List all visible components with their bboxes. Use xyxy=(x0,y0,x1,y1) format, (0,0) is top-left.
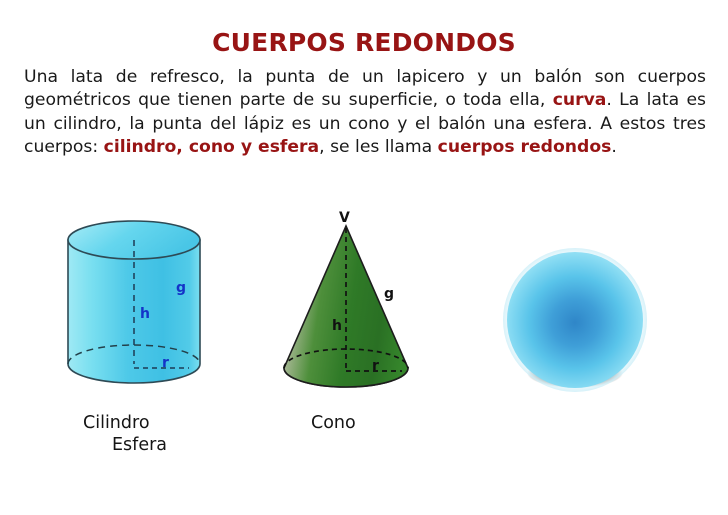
keyword-cilindro-cono-esfera: cilindro, cono y esfera xyxy=(104,137,320,157)
caption-cono: Cono xyxy=(311,413,356,433)
keyword-cuerpos-redondos: cuerpos redondos xyxy=(438,137,612,157)
paragraph-run-5: , se les llama xyxy=(319,137,438,157)
cone-label-v: V xyxy=(339,210,350,226)
figure-cylinder: h g r xyxy=(50,208,240,408)
cylinder-label-h: h xyxy=(140,306,150,322)
caption-cilindro: Cilindro xyxy=(83,413,150,433)
figure-cone: V h g r xyxy=(262,208,447,408)
caption-esfera: Esfera xyxy=(112,435,167,455)
cylinder-illustration: h g r xyxy=(50,208,240,408)
cone-label-g: g xyxy=(384,286,394,302)
slide-canvas: CUERPOS REDONDOS Una lata de refresco, l… xyxy=(0,0,728,515)
keyword-curva: curva xyxy=(553,90,607,110)
cone-label-r: r xyxy=(372,358,379,374)
figure-sphere xyxy=(477,208,677,408)
figure-row: h g r xyxy=(0,208,728,408)
page-title: CUERPOS REDONDOS xyxy=(0,28,728,57)
sphere-body xyxy=(507,252,643,388)
sphere-illustration xyxy=(477,208,677,408)
cone-illustration: V h g r xyxy=(262,208,447,408)
cone-label-h: h xyxy=(332,318,342,334)
paragraph-run-7: . xyxy=(611,137,616,157)
body-paragraph: Una lata de refresco, la punta de un lap… xyxy=(24,66,706,160)
cylinder-label-g: g xyxy=(176,280,186,296)
cylinder-label-r: r xyxy=(162,355,169,371)
